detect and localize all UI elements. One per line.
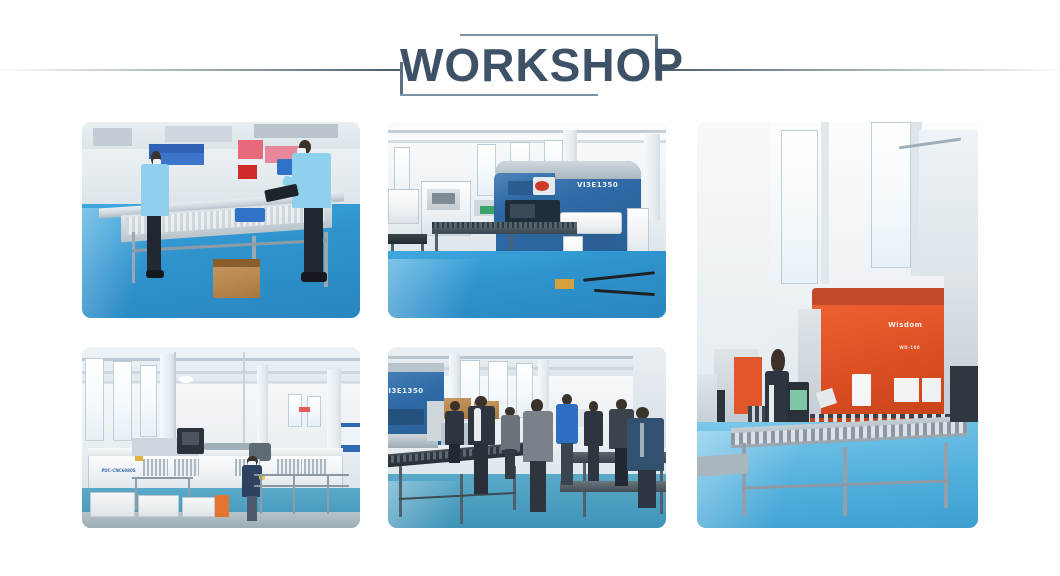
- machine-brand-label-brake: Wisdom: [888, 321, 922, 329]
- gallery-item-assembly-line[interactable]: [82, 122, 360, 318]
- visitor-1: [444, 401, 466, 463]
- visitor-4: [521, 399, 554, 511]
- gallery-item-punch-press[interactable]: VI3E1350: [388, 122, 666, 318]
- visitor-8: [627, 407, 666, 508]
- section-heading: WORKSHOP: [0, 34, 1060, 96]
- machine-model-label-brake: WD-100: [899, 345, 920, 350]
- visitor-5: [555, 394, 580, 485]
- workshop-gallery-page: WORKSHOP: [0, 0, 1060, 576]
- heading-rule-left: [0, 69, 402, 71]
- photo-punch-press: VI3E1350: [388, 122, 666, 318]
- heading-rule-right: [656, 69, 1060, 71]
- photo-assembly-line: [82, 122, 360, 318]
- gallery-item-cnc-centre[interactable]: PDC-CNC6080S: [82, 347, 360, 528]
- worker-left: [135, 151, 177, 280]
- page-title: WORKSHOP: [400, 34, 658, 96]
- photo-cnc-centre: PDC-CNC6080S: [82, 347, 360, 528]
- worker-right: [282, 140, 338, 285]
- gallery-item-visitor-tour[interactable]: VI3E1350: [388, 347, 666, 528]
- machine-brand-label-tour: VI3E1350: [388, 387, 424, 395]
- machine-brand-label-punch: VI3E1350: [577, 181, 618, 189]
- photo-visitor-tour: VI3E1350: [388, 347, 666, 528]
- visitor-6: [583, 401, 605, 481]
- visitor-3: [499, 407, 521, 479]
- machine-model-label-cnc: PDC-CNC6080S: [101, 468, 135, 473]
- visitor-2: [466, 396, 497, 494]
- photo-gallery: VI3E1350: [82, 122, 978, 528]
- gallery-item-press-brake[interactable]: Wisdom WD-100: [697, 122, 978, 528]
- photo-press-brake: Wisdom WD-100: [697, 122, 978, 528]
